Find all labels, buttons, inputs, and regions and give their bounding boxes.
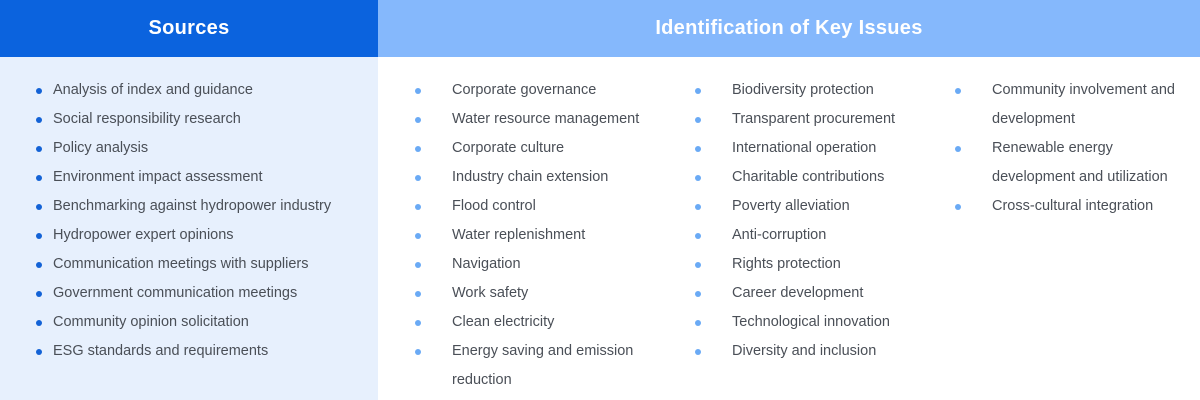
list-item: Biodiversity protection bbox=[695, 76, 945, 105]
sources-header-title: Sources bbox=[148, 17, 229, 40]
list-item: Renewable energy development and utiliza… bbox=[955, 134, 1190, 192]
list-item-label: Environment impact assessment bbox=[53, 169, 263, 185]
list-item: Work safety bbox=[415, 279, 677, 308]
list-item: International operation bbox=[695, 134, 945, 163]
list-item: Corporate governance bbox=[415, 76, 677, 105]
list-item: Social responsibility research bbox=[0, 105, 378, 134]
list-item: Anti-corruption bbox=[695, 221, 945, 250]
bullet-dot-icon bbox=[36, 291, 42, 297]
list-item-label: ESG standards and requirements bbox=[53, 343, 268, 359]
bullet-dot-icon bbox=[36, 88, 42, 94]
list-item: Transparent procurement bbox=[695, 105, 945, 134]
bullet-dot-icon bbox=[695, 233, 701, 239]
list-item: Clean electricity bbox=[415, 308, 677, 337]
list-item: Corporate culture bbox=[415, 134, 677, 163]
key-issues-header: Identification of Key Issues bbox=[378, 0, 1200, 57]
list-item-label: Government communication meetings bbox=[53, 285, 297, 301]
list-item-label: Diversity and inclusion bbox=[732, 337, 876, 366]
list-item: Analysis of index and guidance bbox=[0, 76, 378, 105]
bullet-dot-icon bbox=[955, 88, 961, 94]
list-item: Environment impact assessment bbox=[0, 163, 378, 192]
bullet-dot-icon bbox=[695, 117, 701, 123]
bullet-dot-icon bbox=[415, 349, 421, 355]
list-item-label: Clean electricity bbox=[452, 308, 554, 337]
list-item-label: Water replenishment bbox=[452, 221, 585, 250]
key-issues-column-1: Corporate governance Water resource mana… bbox=[415, 76, 677, 395]
bullet-dot-icon bbox=[415, 262, 421, 268]
bullet-dot-icon bbox=[695, 175, 701, 181]
key-issues-header-title: Identification of Key Issues bbox=[655, 17, 922, 40]
bullet-dot-icon bbox=[695, 291, 701, 297]
list-item-label: Industry chain extension bbox=[452, 163, 608, 192]
bullet-dot-icon bbox=[415, 233, 421, 239]
list-item: Community opinion solicitation bbox=[0, 308, 378, 337]
bullet-dot-icon bbox=[36, 349, 42, 355]
bullet-dot-icon bbox=[36, 262, 42, 268]
bullet-dot-icon bbox=[415, 320, 421, 326]
list-item: Poverty alleviation bbox=[695, 192, 945, 221]
sources-list: Analysis of index and guidance Social re… bbox=[0, 57, 378, 366]
list-item: Community involvement and development bbox=[955, 76, 1190, 134]
bullet-dot-icon bbox=[36, 320, 42, 326]
list-item: Hydropower expert opinions bbox=[0, 221, 378, 250]
list-item-label: Biodiversity protection bbox=[732, 76, 874, 105]
sources-panel: Sources Analysis of index and guidance S… bbox=[0, 0, 378, 400]
bullet-dot-icon bbox=[415, 204, 421, 210]
list-item: Technological innovation bbox=[695, 308, 945, 337]
key-issues-columns: Corporate governance Water resource mana… bbox=[378, 57, 1200, 400]
list-item-label: Community opinion solicitation bbox=[53, 314, 249, 330]
list-item: Water replenishment bbox=[415, 221, 677, 250]
list-item-label: Benchmarking against hydropower industry bbox=[53, 198, 331, 214]
two-panel-diagram: Sources Analysis of index and guidance S… bbox=[0, 0, 1200, 400]
list-item-label: Flood control bbox=[452, 192, 536, 221]
list-item: Navigation bbox=[415, 250, 677, 279]
key-issues-column-2: Biodiversity protection Transparent proc… bbox=[695, 76, 945, 366]
list-item: Policy analysis bbox=[0, 134, 378, 163]
list-item-label: Navigation bbox=[452, 250, 521, 279]
list-item-label: Transparent procurement bbox=[732, 105, 895, 134]
list-item-label: Renewable energy development and utiliza… bbox=[992, 134, 1190, 192]
list-item-label: Charitable contributions bbox=[732, 163, 884, 192]
list-item: Cross-cultural integration bbox=[955, 192, 1190, 221]
list-item-label: Poverty alleviation bbox=[732, 192, 850, 221]
list-item-label: Policy analysis bbox=[53, 140, 148, 156]
bullet-dot-icon bbox=[695, 262, 701, 268]
bullet-dot-icon bbox=[695, 204, 701, 210]
list-item: Water resource management bbox=[415, 105, 677, 134]
list-item: Flood control bbox=[415, 192, 677, 221]
bullet-dot-icon bbox=[36, 204, 42, 210]
sources-header: Sources bbox=[0, 0, 378, 57]
list-item-label: Communication meetings with suppliers bbox=[53, 256, 308, 272]
list-item-label: Energy saving and emission reduction bbox=[452, 337, 677, 395]
bullet-dot-icon bbox=[36, 146, 42, 152]
bullet-dot-icon bbox=[695, 88, 701, 94]
list-item: ESG standards and requirements bbox=[0, 337, 378, 366]
bullet-dot-icon bbox=[695, 320, 701, 326]
list-item-label: Technological innovation bbox=[732, 308, 890, 337]
list-item-label: Social responsibility research bbox=[53, 111, 241, 127]
bullet-dot-icon bbox=[415, 88, 421, 94]
list-item-label: Hydropower expert opinions bbox=[53, 227, 234, 243]
list-item-label: Corporate governance bbox=[452, 76, 596, 105]
list-item-label: Corporate culture bbox=[452, 134, 564, 163]
list-item: Communication meetings with suppliers bbox=[0, 250, 378, 279]
bullet-dot-icon bbox=[36, 175, 42, 181]
bullet-dot-icon bbox=[415, 175, 421, 181]
bullet-dot-icon bbox=[415, 117, 421, 123]
list-item-label: Career development bbox=[732, 279, 863, 308]
list-item: Charitable contributions bbox=[695, 163, 945, 192]
list-item-label: Analysis of index and guidance bbox=[53, 82, 253, 98]
list-item-label: Cross-cultural integration bbox=[992, 192, 1153, 221]
bullet-dot-icon bbox=[695, 349, 701, 355]
bullet-dot-icon bbox=[955, 204, 961, 210]
list-item-label: Anti-corruption bbox=[732, 221, 826, 250]
list-item: Rights protection bbox=[695, 250, 945, 279]
list-item: Benchmarking against hydropower industry bbox=[0, 192, 378, 221]
bullet-dot-icon bbox=[36, 233, 42, 239]
list-item: Diversity and inclusion bbox=[695, 337, 945, 366]
list-item: Industry chain extension bbox=[415, 163, 677, 192]
key-issues-panel: Identification of Key Issues Corporate g… bbox=[378, 0, 1200, 400]
bullet-dot-icon bbox=[415, 146, 421, 152]
list-item: Government communication meetings bbox=[0, 279, 378, 308]
bullet-dot-icon bbox=[695, 146, 701, 152]
bullet-dot-icon bbox=[955, 146, 961, 152]
list-item-label: Work safety bbox=[452, 279, 528, 308]
key-issues-column-3: Community involvement and development Re… bbox=[955, 76, 1190, 221]
list-item-label: International operation bbox=[732, 134, 876, 163]
list-item: Energy saving and emission reduction bbox=[415, 337, 677, 395]
bullet-dot-icon bbox=[415, 291, 421, 297]
bullet-dot-icon bbox=[36, 117, 42, 123]
list-item-label: Community involvement and development bbox=[992, 76, 1190, 134]
list-item: Career development bbox=[695, 279, 945, 308]
list-item-label: Rights protection bbox=[732, 250, 841, 279]
list-item-label: Water resource management bbox=[452, 105, 639, 134]
